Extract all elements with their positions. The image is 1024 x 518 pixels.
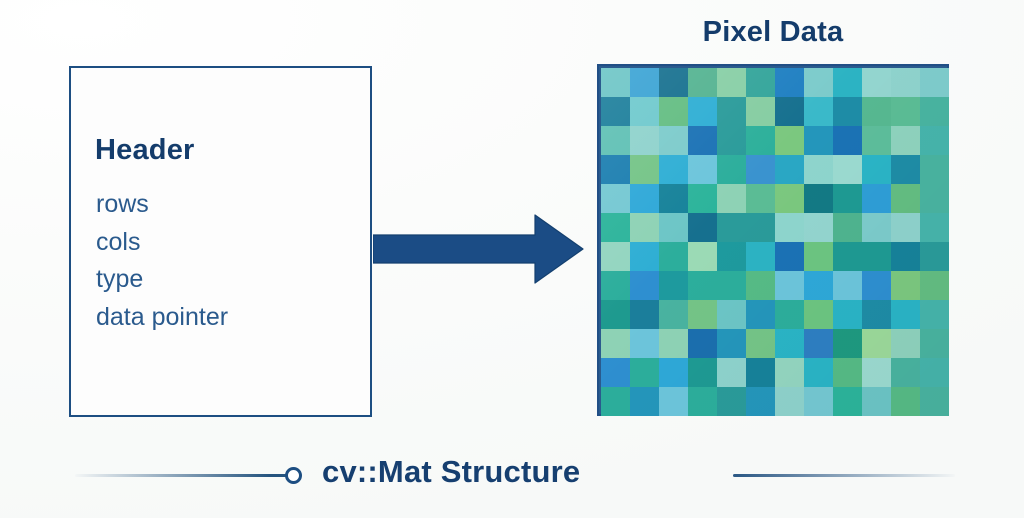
pixel-cell — [804, 155, 833, 184]
pixel-cell — [630, 213, 659, 242]
circle-node-icon — [285, 467, 302, 484]
pixel-cell — [717, 300, 746, 329]
pixel-cell — [804, 271, 833, 300]
pixel-cell — [659, 358, 688, 387]
pixel-cell — [688, 242, 717, 271]
pixel-cell — [833, 184, 862, 213]
pixel-cell — [630, 387, 659, 416]
pixel-cell — [862, 271, 891, 300]
pixel-cell — [746, 300, 775, 329]
pixel-cell — [630, 329, 659, 358]
pixel-cell — [920, 68, 949, 97]
pixel-cell — [717, 155, 746, 184]
pixel-cell — [717, 68, 746, 97]
pixel-cell — [601, 358, 630, 387]
pixel-cell — [891, 242, 920, 271]
pixel-cell — [804, 126, 833, 155]
footer-caption-text: cv::Mat Structure — [322, 454, 580, 490]
pixel-cell — [746, 242, 775, 271]
pixel-cell — [601, 271, 630, 300]
pixel-cell — [804, 300, 833, 329]
pixel-cell — [630, 184, 659, 213]
pixel-cell — [746, 387, 775, 416]
pixel-cell — [775, 242, 804, 271]
pixel-cell — [775, 358, 804, 387]
pixel-cell — [659, 126, 688, 155]
pixel-cell — [891, 358, 920, 387]
pixel-cell — [601, 68, 630, 97]
pixel-cell — [862, 213, 891, 242]
pixel-cell — [746, 68, 775, 97]
pixel-cell — [862, 387, 891, 416]
pixel-cell — [717, 271, 746, 300]
pixel-cell — [804, 184, 833, 213]
pixel-cell — [659, 242, 688, 271]
pixel-cell — [833, 358, 862, 387]
pixel-cell — [601, 300, 630, 329]
pixel-cell — [601, 387, 630, 416]
pixel-cell — [833, 329, 862, 358]
pixel-cell — [833, 97, 862, 126]
pixel-cell — [746, 358, 775, 387]
pixel-cell — [688, 68, 717, 97]
pixel-cell — [775, 271, 804, 300]
pixel-cell — [804, 68, 833, 97]
pixel-cell — [630, 271, 659, 300]
pixel-cell — [775, 213, 804, 242]
footer-caption-bar: cv::Mat Structure — [0, 448, 1024, 508]
pixel-cell — [688, 387, 717, 416]
pixel-cell — [804, 358, 833, 387]
pixel-cell — [630, 126, 659, 155]
header-box: Header rows cols type data pointer — [69, 66, 372, 417]
pixel-cell — [891, 184, 920, 213]
pixel-cell — [717, 213, 746, 242]
header-field-data-pointer: data pointer — [96, 299, 228, 337]
pixel-cell — [920, 97, 949, 126]
pixel-cell — [891, 329, 920, 358]
pixel-cell — [920, 155, 949, 184]
pixel-cell — [920, 300, 949, 329]
pixel-cell — [746, 155, 775, 184]
pixel-cell — [630, 242, 659, 271]
pixel-cell — [746, 184, 775, 213]
pixel-cell — [746, 97, 775, 126]
pixel-cell — [891, 213, 920, 242]
pixel-cell — [717, 184, 746, 213]
pixel-cell — [862, 184, 891, 213]
pixel-cell — [891, 155, 920, 184]
pixel-cell — [717, 97, 746, 126]
pixel-cell — [659, 300, 688, 329]
pixel-cell — [659, 387, 688, 416]
pixel-cell — [601, 97, 630, 126]
pixel-cell — [630, 155, 659, 184]
pixel-cell — [775, 68, 804, 97]
pixel-cell — [775, 329, 804, 358]
pixel-cell — [804, 387, 833, 416]
pixel-cell — [688, 329, 717, 358]
pixel-cell — [833, 300, 862, 329]
pixel-cell — [630, 358, 659, 387]
pixel-cell — [688, 300, 717, 329]
pixel-cell — [746, 126, 775, 155]
pixel-cell — [601, 242, 630, 271]
pixel-cell — [920, 184, 949, 213]
pixel-cell — [775, 300, 804, 329]
pixel-cell — [891, 300, 920, 329]
pixel-cell — [862, 242, 891, 271]
pixel-cell — [659, 213, 688, 242]
pixel-cell — [891, 97, 920, 126]
pixel-cell — [746, 329, 775, 358]
pixel-cell — [775, 387, 804, 416]
pixel-data-title: Pixel Data — [598, 16, 948, 49]
header-box-title: Header — [95, 134, 195, 167]
pixel-cell — [630, 97, 659, 126]
pixel-cell — [833, 242, 862, 271]
pixel-cell — [746, 271, 775, 300]
pixel-cell — [775, 97, 804, 126]
pixel-cell — [862, 126, 891, 155]
right-arrow-icon — [373, 212, 585, 286]
pixel-cell — [746, 213, 775, 242]
pixel-cell — [862, 68, 891, 97]
pixel-cell — [601, 126, 630, 155]
pixel-cell — [891, 271, 920, 300]
pixel-cell — [688, 358, 717, 387]
pixel-cell — [833, 126, 862, 155]
pixel-cell — [804, 329, 833, 358]
pixel-cell — [775, 155, 804, 184]
pixel-cell — [891, 68, 920, 97]
pixel-cell — [688, 126, 717, 155]
pixel-cell — [688, 184, 717, 213]
pixel-cell — [688, 97, 717, 126]
footer-rule-right — [733, 474, 955, 477]
pixel-cell — [804, 242, 833, 271]
pixel-cell — [920, 358, 949, 387]
pixel-cell — [630, 68, 659, 97]
pixel-cell — [891, 126, 920, 155]
pixel-cell — [659, 271, 688, 300]
pixel-cell — [833, 213, 862, 242]
pixel-cell — [775, 184, 804, 213]
pixel-cell — [862, 300, 891, 329]
pixel-data-frame — [597, 64, 949, 416]
pixel-cell — [833, 68, 862, 97]
pixel-cell — [601, 184, 630, 213]
pixel-cell — [688, 155, 717, 184]
pixel-cell — [833, 271, 862, 300]
pixel-cell — [920, 126, 949, 155]
pixel-cell — [804, 213, 833, 242]
pixel-cell — [601, 155, 630, 184]
pixel-cell — [630, 300, 659, 329]
pixel-cell — [833, 155, 862, 184]
pixel-cell — [717, 126, 746, 155]
pixel-cell — [601, 329, 630, 358]
pixel-cell — [891, 387, 920, 416]
pixel-cell — [659, 97, 688, 126]
pixel-cell — [920, 387, 949, 416]
pixel-cell — [659, 155, 688, 184]
pixel-cell — [862, 155, 891, 184]
header-field-type: type — [96, 261, 228, 299]
pixel-cell — [920, 242, 949, 271]
pixel-cell — [688, 213, 717, 242]
pixel-cell — [717, 387, 746, 416]
pixel-cell — [862, 358, 891, 387]
pixel-cell — [920, 329, 949, 358]
pixel-cell — [717, 358, 746, 387]
pixel-grid — [601, 68, 949, 416]
pixel-cell — [688, 271, 717, 300]
pixel-cell — [862, 329, 891, 358]
pixel-cell — [659, 329, 688, 358]
pixel-cell — [862, 97, 891, 126]
pixel-cell — [833, 387, 862, 416]
pixel-cell — [775, 126, 804, 155]
footer-rule-left — [75, 474, 287, 477]
pixel-cell — [920, 271, 949, 300]
pixel-cell — [659, 184, 688, 213]
pixel-cell — [659, 68, 688, 97]
pixel-cell — [920, 213, 949, 242]
header-field-list: rows cols type data pointer — [96, 186, 228, 336]
diagram-canvas: Header rows cols type data pointer Pixel… — [0, 0, 1024, 518]
pixel-cell — [717, 242, 746, 271]
header-field-cols: cols — [96, 224, 228, 262]
header-field-rows: rows — [96, 186, 228, 224]
pixel-cell — [717, 329, 746, 358]
pixel-cell — [804, 97, 833, 126]
pixel-cell — [601, 213, 630, 242]
